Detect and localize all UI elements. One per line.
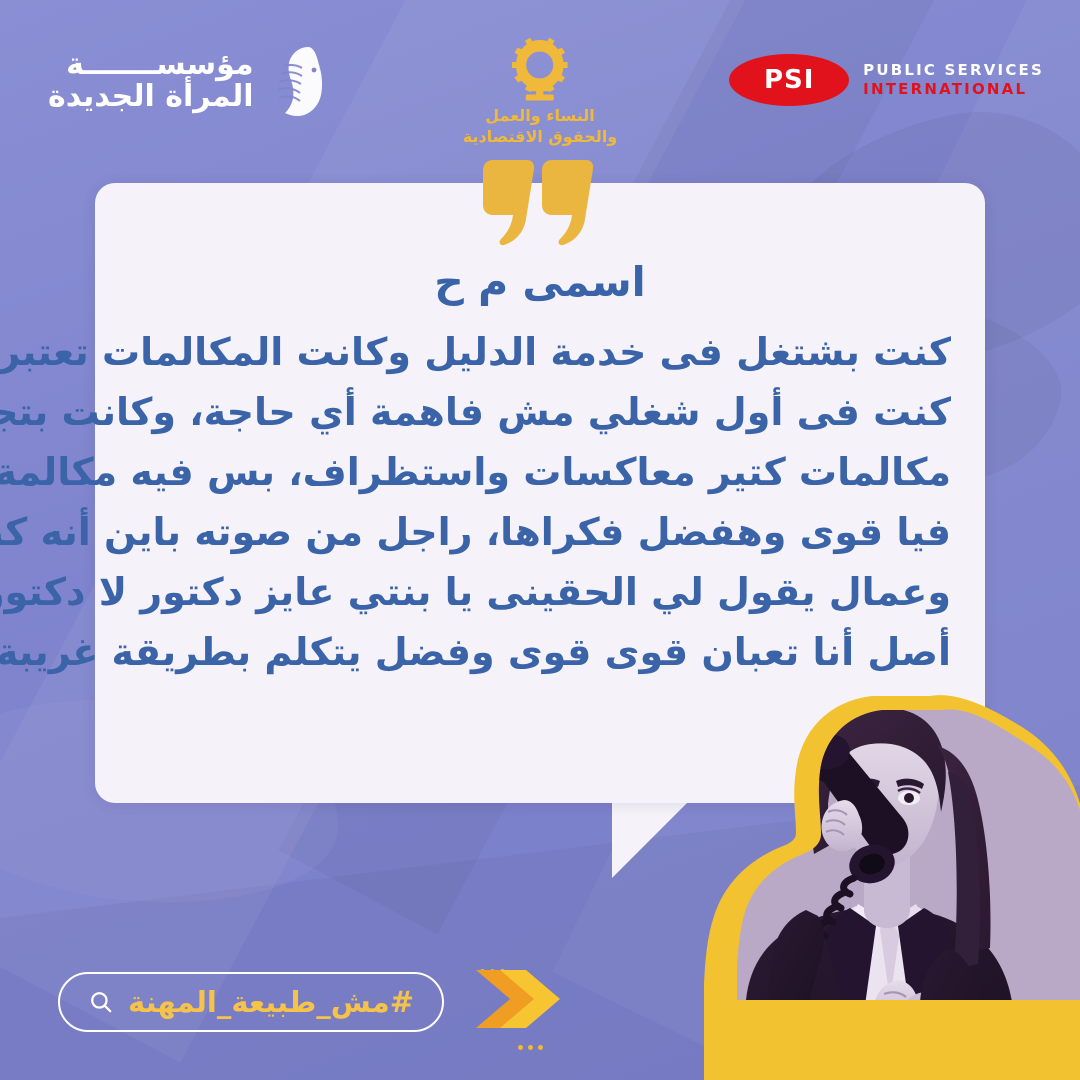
quote-line: مكالمات كتير معاكسات واستظراف، بس فيه مك… [129, 442, 951, 502]
quote-line: فيا قوى وهفضل فكراها، راجل من صوته باين … [129, 502, 951, 562]
search-icon[interactable] [88, 989, 114, 1015]
center-logo-line1: النساء والعمل [463, 106, 618, 127]
psi-line-public-services: PUBLIC SERVICES [863, 61, 1044, 80]
gear-female-symbol-icon [463, 36, 618, 102]
woman-face-profile-icon [264, 44, 330, 118]
nwf-logo-line2: المرأة الجديدة [48, 81, 254, 113]
double-chevron-right-icon [470, 964, 590, 1034]
quote-line: كنت فى أول شغلي مش فاهمة أي حاجة، وكانت … [129, 382, 951, 442]
woman-on-telephone-photo [686, 680, 1080, 1080]
logo-women-work-economic-rights: النساء والعمل والحقوق الاقتصادية [463, 36, 618, 148]
social-media-card: مؤسســـــــة المرأة الجديدة [0, 0, 1080, 1080]
nwf-logo-text: مؤسســـــــة المرأة الجديدة [48, 49, 254, 114]
quote-line: أصل أنا تعبان قوى قوى وفضل يتكلم بطريقة … [129, 622, 951, 682]
psi-wordmark: PUBLIC SERVICES INTERNATIONAL [863, 61, 1044, 99]
psi-badge: PSI [729, 54, 849, 106]
psi-badge-text: PSI [764, 65, 814, 95]
header-logos: مؤسســـــــة المرأة الجديدة [0, 0, 1080, 160]
decorative-dots-bottom [518, 1045, 543, 1050]
center-logo-text: النساء والعمل والحقوق الاقتصادية [463, 106, 618, 148]
speech-bubble-tail [612, 800, 690, 878]
hashtag-text: #مش_طبيعة_المهنة [128, 985, 414, 1019]
nwf-logo-line1: مؤسســـــــة [48, 49, 254, 81]
psi-line-international: INTERNATIONAL [863, 80, 1044, 99]
speaker-name: اسمى م ح [129, 257, 951, 308]
quote-body: كنت بشتغل فى خدمة الدليل وكانت المكالمات… [129, 322, 951, 682]
quotation-mark-icon [481, 160, 599, 249]
quote-line: وعمال يقول لي الحقينى يا بنتي عايز دكتور… [129, 562, 951, 622]
hashtag-pill[interactable]: #مش_طبيعة_المهنة [58, 972, 444, 1032]
logo-new-woman-foundation: مؤسســـــــة المرأة الجديدة [48, 44, 330, 118]
center-logo-line2: والحقوق الاقتصادية [463, 127, 618, 148]
logo-psi: PSI PUBLIC SERVICES INTERNATIONAL [729, 54, 1044, 106]
quote-line: كنت بشتغل فى خدمة الدليل وكانت المكالمات… [129, 322, 951, 382]
